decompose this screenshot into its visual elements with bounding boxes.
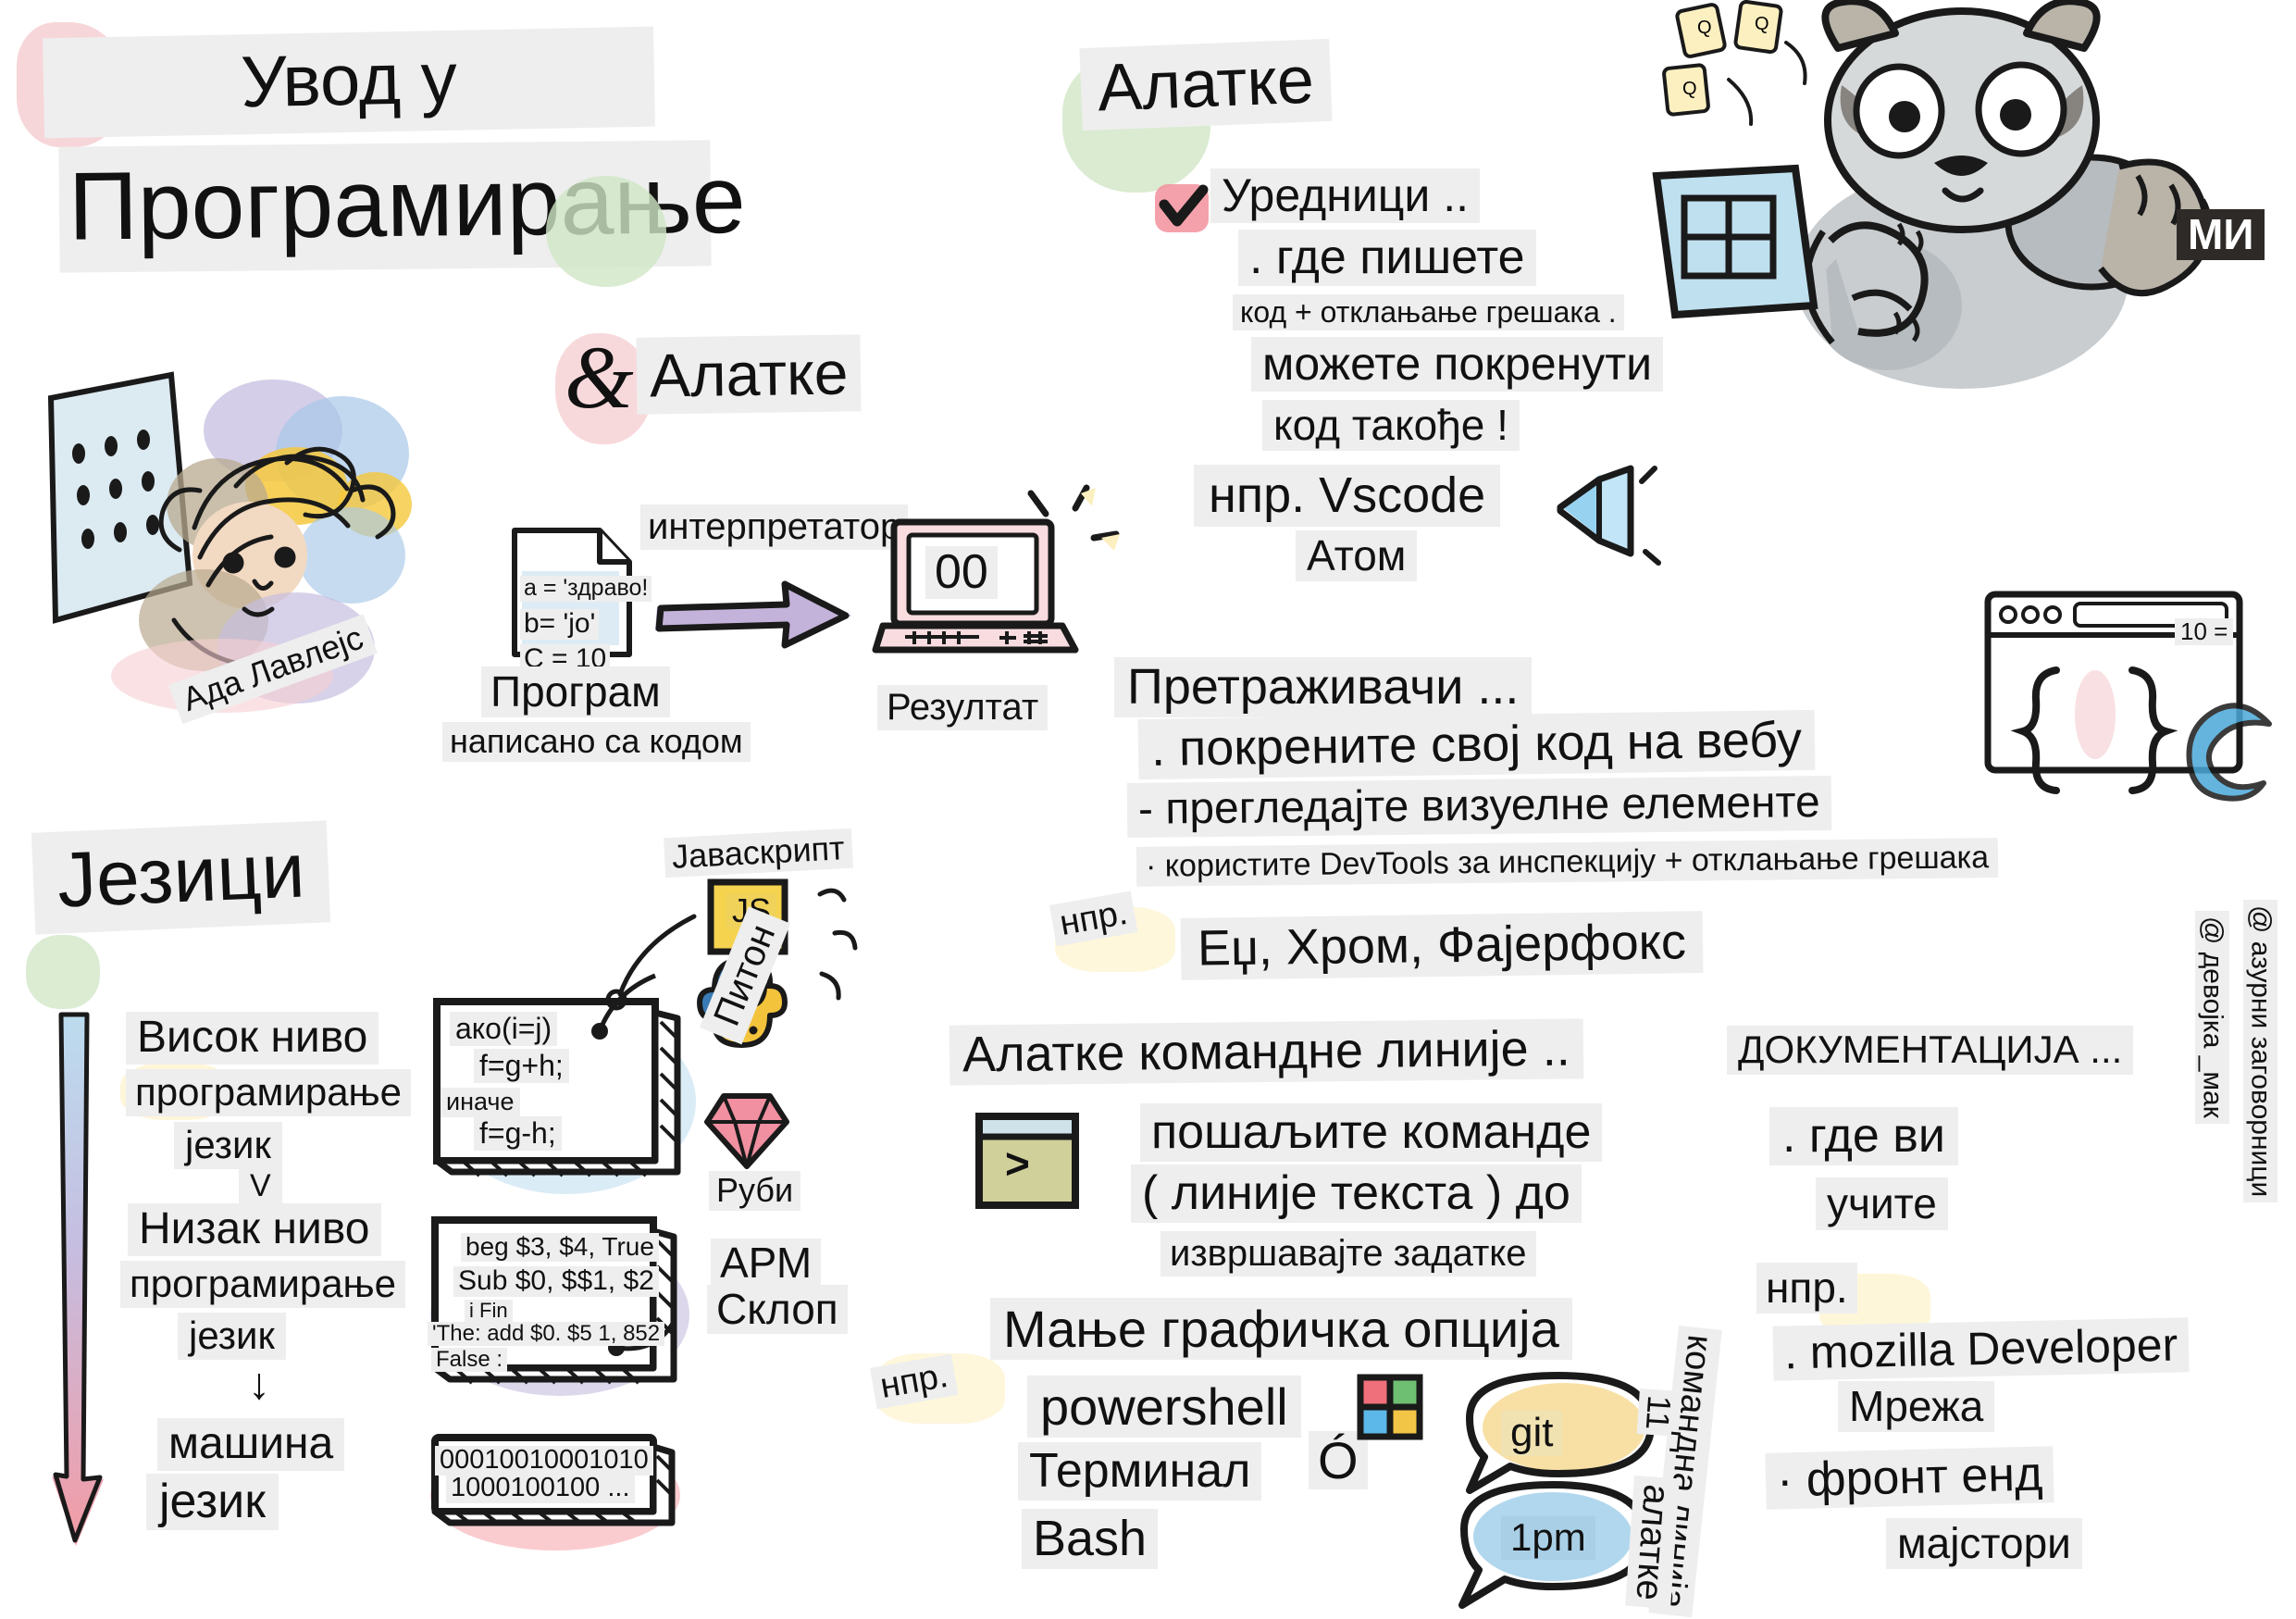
tools-heading: Алатке xyxy=(1079,39,1332,131)
time-bubble-label: 1pm xyxy=(1501,1516,1595,1560)
card-icon-connectors xyxy=(592,907,777,1111)
svg-text:Q: Q xyxy=(1682,79,1697,99)
svg-text:Q: Q xyxy=(1697,18,1712,38)
svg-text:Q: Q xyxy=(1755,14,1769,34)
code-high-line2: f=g+h; xyxy=(474,1049,569,1083)
machine-line2: језик xyxy=(146,1474,279,1530)
python-sparkle xyxy=(803,870,887,1009)
docs-example-frontend: · фронт енд xyxy=(1765,1446,2054,1510)
code-asm-line2: Sub $0, $$1, $2 xyxy=(453,1266,659,1297)
program-sublabel: написано са кодом xyxy=(442,722,751,762)
code-high-line1: ако(i=j) xyxy=(450,1012,557,1046)
interpreter-arrow xyxy=(648,569,861,662)
windows-icon xyxy=(1349,1368,1433,1451)
docs-eg-prefix: нпр. xyxy=(1756,1263,1857,1314)
docs-line2: учите xyxy=(1816,1177,1948,1230)
raccoon-badge: МИ xyxy=(2177,209,2265,260)
credits-line-2: @ девојка _мак xyxy=(2195,911,2229,1124)
result-screen-value: 00 xyxy=(925,546,998,599)
code-binary-line1: 00010010001010 xyxy=(435,1446,653,1476)
ampersand-glyph: & xyxy=(565,326,634,429)
machine-line1: машина xyxy=(157,1418,344,1471)
check-icon xyxy=(1146,171,1220,245)
editors-example-vscode: нпр. Vscode xyxy=(1194,465,1500,527)
vscode-icon xyxy=(1542,461,1662,572)
arm-label-2: Склоп xyxy=(707,1285,848,1334)
infographic-canvas: Увод у Програмирање & Алатке xyxy=(0,0,2296,1619)
code-binary-line2: 1000100100 ... xyxy=(446,1474,635,1503)
browser-zoom-label: 10 = xyxy=(2175,618,2233,645)
title-line1: Увод у xyxy=(43,27,655,139)
program-code-line-2: b= 'јо' xyxy=(520,609,599,640)
editors-line1: . где пишете xyxy=(1238,230,1536,286)
program-code-line-1: a = 'здраво! xyxy=(520,576,652,602)
high-level-line3: језик xyxy=(174,1122,282,1169)
browsers-title: Претраживачи ... xyxy=(1114,657,1532,717)
editors-line2: код + отклањање грешака . xyxy=(1233,294,1624,330)
cli-heading: Алатке командне линије .. xyxy=(949,1018,1583,1085)
low-level-line1: Низак ниво xyxy=(128,1203,381,1256)
languages-heading: Језици xyxy=(31,820,331,934)
code-high-line4: f=g-h; xyxy=(474,1116,562,1151)
editors-title: Уредници .. xyxy=(1210,168,1480,223)
docs-line1: . где ви xyxy=(1769,1107,1958,1165)
title-line3: Алатке xyxy=(636,334,861,415)
low-level-line3: језик xyxy=(178,1313,286,1360)
browsers-line1: . покрените свој код на вебу xyxy=(1138,710,1816,779)
docs-heading: ДОКУМЕНТАЦИЈА ... xyxy=(1727,1026,2133,1075)
cli-example-powershell: powershell xyxy=(1027,1376,1301,1438)
ruby-label: Руби xyxy=(709,1171,800,1211)
cli-less-graphic: Мање графичка опција xyxy=(990,1298,1572,1360)
docs-example-masters: мајстори xyxy=(1886,1518,2082,1569)
cli-example-bash: Bash xyxy=(1022,1509,1158,1569)
low-level-line2: програмирање xyxy=(120,1261,405,1308)
code-asm-line5: False : xyxy=(431,1348,507,1372)
editors-example-atom: Атом xyxy=(1296,530,1417,581)
interpreter-label: интерпретатор xyxy=(640,504,908,550)
browsers-example-list: Еџ, Хром, Фајерфокс xyxy=(1181,911,1704,980)
code-asm-line3: i Fin xyxy=(465,1300,513,1322)
credits-line-1: @ азурни заговорници xyxy=(2243,900,2277,1202)
cli-line1: пошаљите команде xyxy=(1140,1103,1602,1162)
level-gradient-arrow xyxy=(48,1009,122,1564)
cli-line2: ( линије текста ) до xyxy=(1131,1164,1582,1223)
level-arrow-v: V xyxy=(239,1168,282,1204)
arm-label: АРМ xyxy=(711,1239,821,1288)
title-green-blob xyxy=(546,176,666,287)
edge-browser-icon xyxy=(2180,687,2291,798)
browsers-line2: - прегледајте визуелне елементе xyxy=(1127,776,1831,838)
browsers-line3: · користите DevTools за инспекцију + отк… xyxy=(1136,838,1998,886)
result-label: Резултат xyxy=(877,685,1048,730)
cli-line3: извршавајте задатке xyxy=(1160,1231,1536,1277)
high-level-line2: програмирање xyxy=(126,1069,411,1116)
terminal-prompt-glyph: > xyxy=(1005,1139,1030,1189)
cli-vertical-label-2: алатке xyxy=(1625,1476,1680,1610)
level-arrow-down: ↓ xyxy=(248,1359,270,1410)
program-label: Програм xyxy=(481,666,670,717)
terminal-icon xyxy=(968,1103,1098,1224)
git-bubble-label: git xyxy=(1501,1411,1562,1456)
cli-example-terminal: Терминал xyxy=(1018,1442,1261,1501)
editors-line4: код такође ! xyxy=(1262,400,1520,451)
editors-line3: можете покренути xyxy=(1251,337,1663,392)
high-level-line1: Висок ниво xyxy=(126,1012,379,1065)
code-high-line3: иначе xyxy=(441,1088,520,1117)
result-sparkle xyxy=(1009,477,1120,588)
languages-green-blob xyxy=(26,935,100,1009)
docs-example-mdn: . mozilla Developer xyxy=(1772,1317,2189,1380)
raccoon-illustration: Q Q Q xyxy=(1657,0,2296,398)
code-asm-line4: 'The: add $0. $5 1, 852 xyxy=(428,1322,664,1346)
docs-example-mdn-2: Мрежа xyxy=(1838,1381,1994,1432)
code-asm-line1: beg $3, $4, True xyxy=(461,1233,659,1262)
